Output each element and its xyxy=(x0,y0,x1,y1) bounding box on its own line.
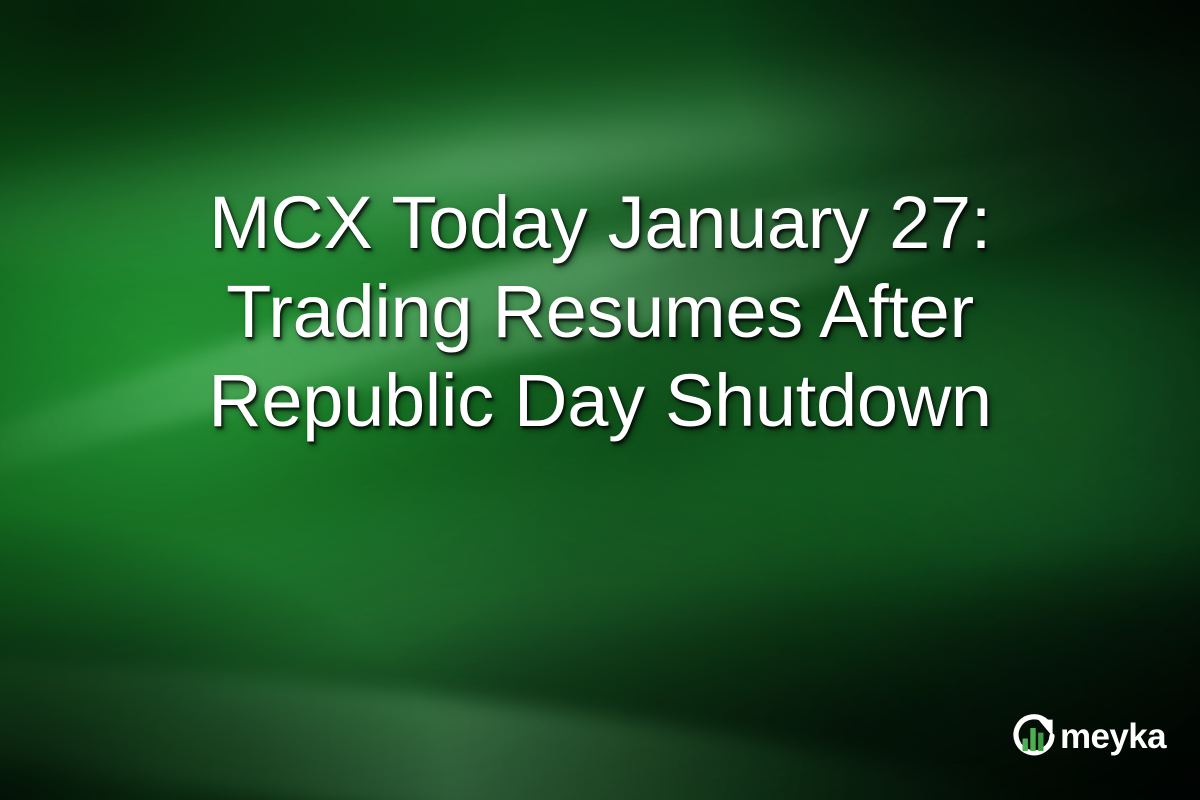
meyka-logo[interactable]: meyka xyxy=(1008,710,1166,762)
headline-line-3: Republic Day Shutdown xyxy=(84,356,1116,445)
headline-title: MCX Today January 27: Trading Resumes Af… xyxy=(0,178,1200,445)
meyka-wordmark: meyka xyxy=(1060,719,1166,754)
headline-line-2: Trading Resumes After xyxy=(84,267,1116,356)
meyka-refresh-bars-icon xyxy=(1008,710,1060,762)
headline-line-1: MCX Today January 27: xyxy=(84,178,1116,267)
article-cover-banner: MCX Today January 27: Trading Resumes Af… xyxy=(0,0,1200,800)
